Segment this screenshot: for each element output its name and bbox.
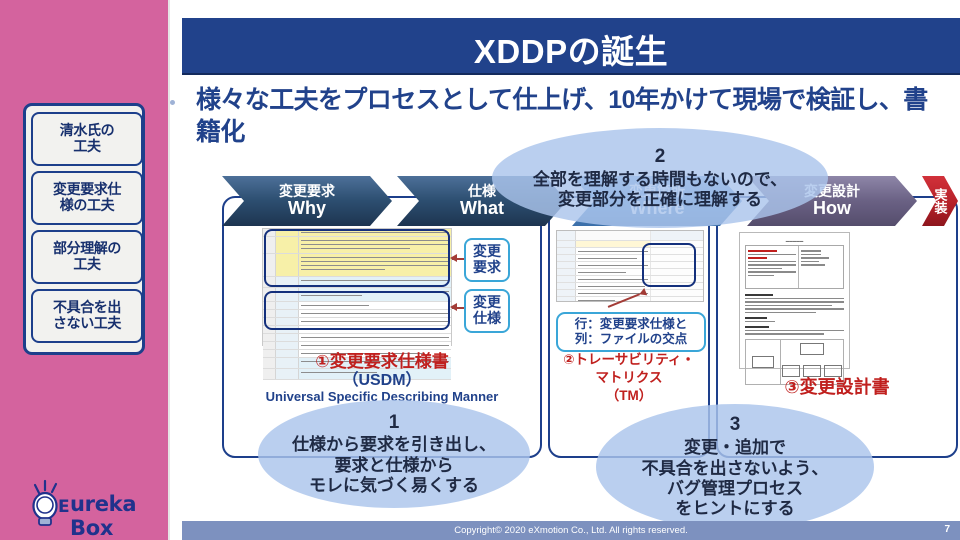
- tm-note-text: 行：変更要求仕様と 列：ファイルの交点: [575, 317, 688, 346]
- callout-ellipse-2: 2 全部を理解する時間もないので、 変更部分を正確に理解する: [492, 128, 828, 228]
- tm-intersection-highlight: [642, 243, 696, 287]
- callout-ellipse-3-line-1: 変更・追加で: [684, 438, 786, 458]
- usdm-change-spec-highlight: [264, 291, 450, 330]
- usdm-request-arrow-head: [450, 254, 457, 262]
- logo-text: ureka Box: [70, 492, 166, 540]
- callout-ellipse-1-line-3: モレに気づく易くする: [309, 476, 479, 496]
- process-step-why[interactable]: 変更要求 Why: [222, 176, 392, 226]
- callout-change-request-label: 変更 要求: [473, 244, 501, 275]
- callout-change-request: 変更 要求: [464, 238, 510, 282]
- eureka-box-logo: ureka Box E: [26, 478, 166, 530]
- tm-caption-sub: マトリクス: [548, 370, 710, 386]
- sidebar-item-shimizu[interactable]: 清水氏の 工夫: [31, 112, 143, 166]
- callout-ellipse-1: 1 仕様から要求を引き出し、 要求と仕様から モレに気づく易くする: [258, 400, 530, 508]
- copyright-text: Copyright© 2020 eXmotion Co., Ltd. All r…: [182, 525, 960, 536]
- bullet-dot: [170, 100, 175, 105]
- callout-ellipse-1-line-2: 要求と仕様から: [335, 456, 454, 476]
- callout-ellipse-3: 3 変更・追加で 不具合を出さないよう、 バグ管理プロセス をヒントにする: [596, 404, 874, 530]
- usdm-caption-sub: （USDM）: [222, 371, 542, 390]
- callout-ellipse-2-line-2: 変更部分を正確に理解する: [558, 190, 762, 210]
- page-title: XDDPの誕生: [182, 25, 960, 73]
- process-step-implementation-ja: 実装: [934, 188, 947, 214]
- logo-mark: E: [58, 497, 70, 517]
- usdm-spec-arrow-head: [450, 303, 457, 311]
- process-step-implementation[interactable]: 実装: [922, 176, 958, 226]
- sidebar-item-group: 清水氏の 工夫 変更要求仕 様の工夫 部分理解の 工夫 不具合を出 さない工夫: [23, 103, 145, 355]
- usdm-change-request-highlight: [264, 229, 450, 287]
- process-step-how-en: How: [813, 199, 851, 218]
- tm-caption-number: ②トレーサビリティ・: [548, 352, 710, 368]
- slide-title-bar: XDDPの誕生: [182, 18, 960, 75]
- slide-canvas: 清水氏の 工夫 変更要求仕 様の工夫 部分理解の 工夫 不具合を出 さない工夫 …: [0, 0, 960, 540]
- sidebar-item-partial-understanding[interactable]: 部分理解の 工夫: [31, 230, 143, 284]
- slide-footer: Copyright© 2020 eXmotion Co., Ltd. All r…: [182, 521, 960, 540]
- callout-ellipse-1-line-1: 仕様から要求を引き出し、: [292, 435, 496, 455]
- process-step-what-en: What: [460, 199, 504, 218]
- process-step-what-ja: 仕様: [468, 184, 496, 199]
- rail-edge-divider: [168, 0, 170, 540]
- tm-caption-sub2: （TM）: [548, 388, 710, 404]
- callout-ellipse-2-number: 2: [655, 146, 666, 169]
- callout-change-spec: 変更 仕様: [464, 289, 510, 333]
- callout-ellipse-1-number: 1: [389, 412, 400, 435]
- process-step-why-en: Why: [288, 199, 326, 218]
- callout-ellipse-3-line-4: をヒントにする: [675, 499, 794, 519]
- sidebar-item-defect-prevention[interactable]: 不具合を出 さない工夫: [31, 289, 143, 343]
- callout-change-spec-label: 変更 仕様: [473, 295, 501, 326]
- design-doc-caption-number: ③変更設計書: [716, 377, 958, 399]
- design-document-thumbnail: ▬▬▬▬▬: [739, 232, 850, 369]
- callout-ellipse-3-line-2: 不具合を出さないよう、: [642, 459, 829, 479]
- callout-ellipse-3-number: 3: [730, 414, 741, 437]
- page-number: 7: [944, 524, 950, 535]
- callout-ellipse-3-line-3: バグ管理プロセス: [667, 479, 803, 499]
- callout-ellipse-2-line-1: 全部を理解する時間もないので、: [533, 170, 787, 190]
- process-step-why-ja: 変更要求: [279, 184, 335, 199]
- sidebar-item-change-request-spec[interactable]: 変更要求仕 様の工夫: [31, 171, 143, 225]
- usdm-caption-number: ①変更要求仕様書: [222, 352, 542, 372]
- tm-note-box: 行：変更要求仕様と 列：ファイルの交点: [556, 312, 706, 352]
